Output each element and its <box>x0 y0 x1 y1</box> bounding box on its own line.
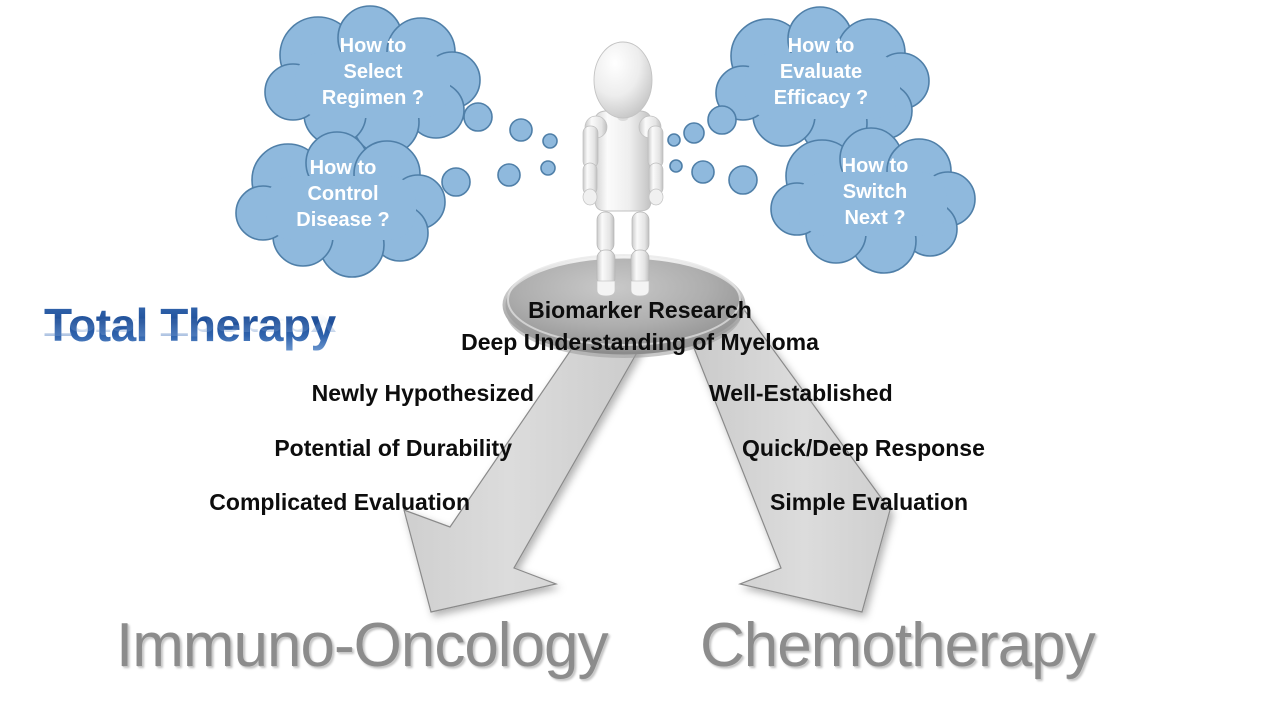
cloud-switch-next[interactable] <box>771 128 975 273</box>
left-attribute-2: Potential of Durability <box>212 435 512 462</box>
cloud-trail-right-top <box>668 106 736 146</box>
slide-canvas: How to Select Regimen ? How to Control D… <box>0 0 1280 720</box>
branch-label-chemotherapy: Chemotherapy <box>700 610 1095 681</box>
cloud-trail-right-bottom <box>670 160 757 194</box>
cloud-trail-left-top <box>464 103 557 148</box>
total-therapy-reflection: Total Therapy <box>44 312 336 342</box>
cloud-control-disease[interactable] <box>236 132 445 277</box>
cloud-select-regimen[interactable] <box>265 6 480 155</box>
cloud-evaluate-efficacy[interactable] <box>716 7 929 156</box>
left-attribute-3: Complicated Evaluation <box>170 489 470 516</box>
center-headline: Biomarker Research Deep Understanding of… <box>330 294 950 358</box>
cloud-trail-left-bottom <box>442 161 555 196</box>
left-attribute-1: Newly Hypothesized <box>248 380 534 407</box>
right-attribute-3: Simple Evaluation <box>770 489 1070 516</box>
right-attribute-1: Well-Established <box>709 380 1009 407</box>
branch-label-immuno-oncology: Immuno-Oncology <box>116 610 608 681</box>
right-attribute-2: Quick/Deep Response <box>742 435 1062 462</box>
